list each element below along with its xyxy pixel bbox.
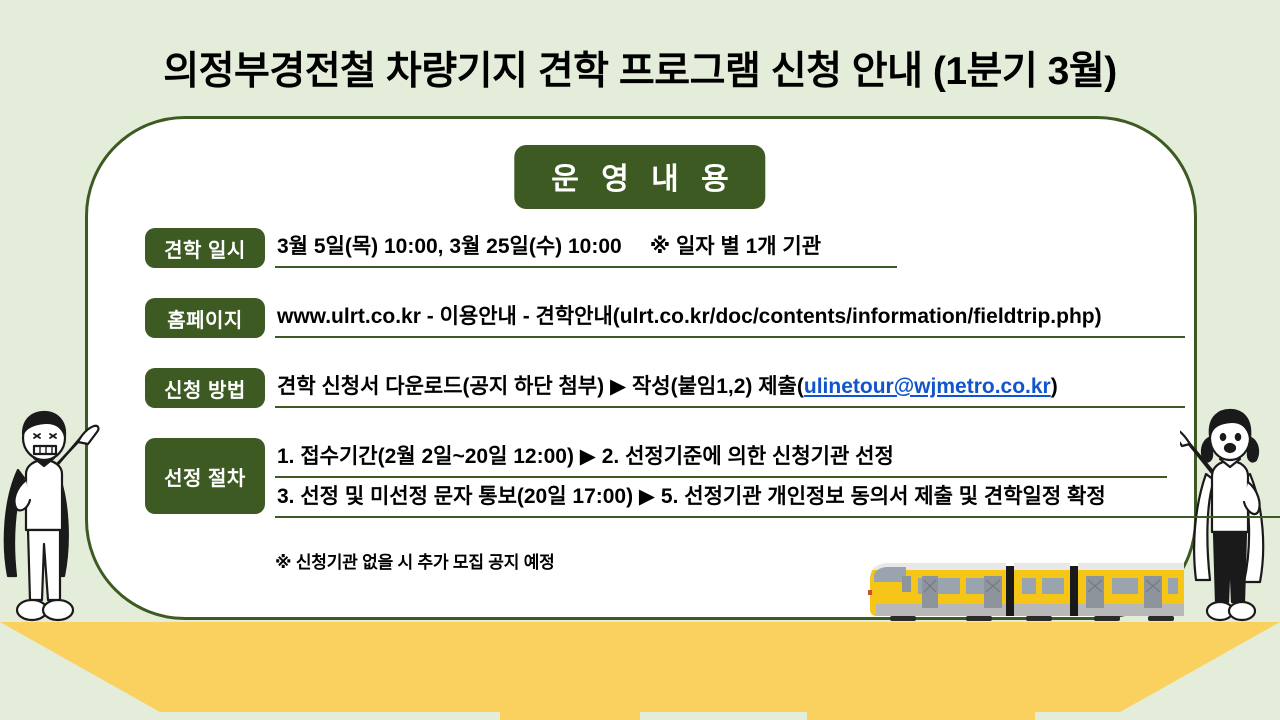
row-label-tour-datetime: 견학 일시 — [145, 228, 265, 268]
email-link[interactable]: ulinetour@wjmetro.co.kr — [804, 375, 1051, 398]
row-body-selection-procedure: 1. 접수기간(2월 2일~20일 12:00) ▶ 2. 선정기준에 의한 신… — [275, 438, 1280, 518]
row-selection-procedure: 선정 절차 1. 접수기간(2월 2일~20일 12:00) ▶ 2. 선정기준… — [145, 438, 1185, 518]
row-value-tour-datetime: 3월 5일(목) 10:00, 3월 25일(수) 10:00※ 일자 별 1개… — [275, 228, 897, 268]
row-value-homepage: www.ulrt.co.kr - 이용안내 - 견학안내(ulrt.co.kr/… — [275, 298, 1185, 338]
row-application-method: 신청 방법 견학 신청서 다운로드(공지 하단 첨부) ▶ 작성(붙임1,2) … — [145, 368, 1185, 408]
row-body-tour-datetime: 3월 5일(목) 10:00, 3월 25일(수) 10:00※ 일자 별 1개… — [275, 228, 1185, 268]
row-label-selection-procedure: 선정 절차 — [145, 438, 265, 514]
tour-datetime-text: 3월 5일(목) 10:00, 3월 25일(수) 10:00 — [277, 235, 622, 258]
selection-procedure-line-1: 1. 접수기간(2월 2일~20일 12:00) ▶ 2. 선정기준에 의한 신… — [275, 438, 1167, 478]
info-rows: 견학 일시 3월 5일(목) 10:00, 3월 25일(수) 10:00※ 일… — [145, 228, 1185, 573]
page-title: 의정부경전철 차량기지 견학 프로그램 신청 안내 (1분기 3월) — [0, 40, 1280, 96]
row-value-application-method: 견학 신청서 다운로드(공지 하단 첨부) ▶ 작성(붙임1,2) 제출(uli… — [275, 368, 1185, 408]
row-label-application-method: 신청 방법 — [145, 368, 265, 408]
selection-procedure-line-2: 3. 선정 및 미선정 문자 통보(20일 17:00) ▶ 5. 선정기관 개… — [275, 478, 1280, 518]
application-method-text-after: ) — [1051, 375, 1058, 398]
footnote: ※ 신청기관 없을 시 추가 모집 공지 예정 — [275, 548, 1185, 573]
tour-datetime-note: ※ 일자 별 1개 기관 — [650, 235, 821, 258]
row-label-homepage: 홈페이지 — [145, 298, 265, 338]
row-homepage: 홈페이지 www.ulrt.co.kr - 이용안내 - 견학안내(ulrt.c… — [145, 298, 1185, 338]
row-tour-datetime: 견학 일시 3월 5일(목) 10:00, 3월 25일(수) 10:00※ 일… — [145, 228, 1185, 268]
boy-pointing-icon — [0, 404, 104, 630]
section-badge-operation-details: 운 영 내 용 — [514, 145, 765, 209]
application-method-text-before: 견학 신청서 다운로드(공지 하단 첨부) ▶ 작성(붙임1,2) 제출( — [277, 375, 804, 398]
row-body-application-method: 견학 신청서 다운로드(공지 하단 첨부) ▶ 작성(붙임1,2) 제출(uli… — [275, 368, 1185, 408]
row-body-homepage: www.ulrt.co.kr - 이용안내 - 견학안내(ulrt.co.kr/… — [275, 298, 1185, 338]
